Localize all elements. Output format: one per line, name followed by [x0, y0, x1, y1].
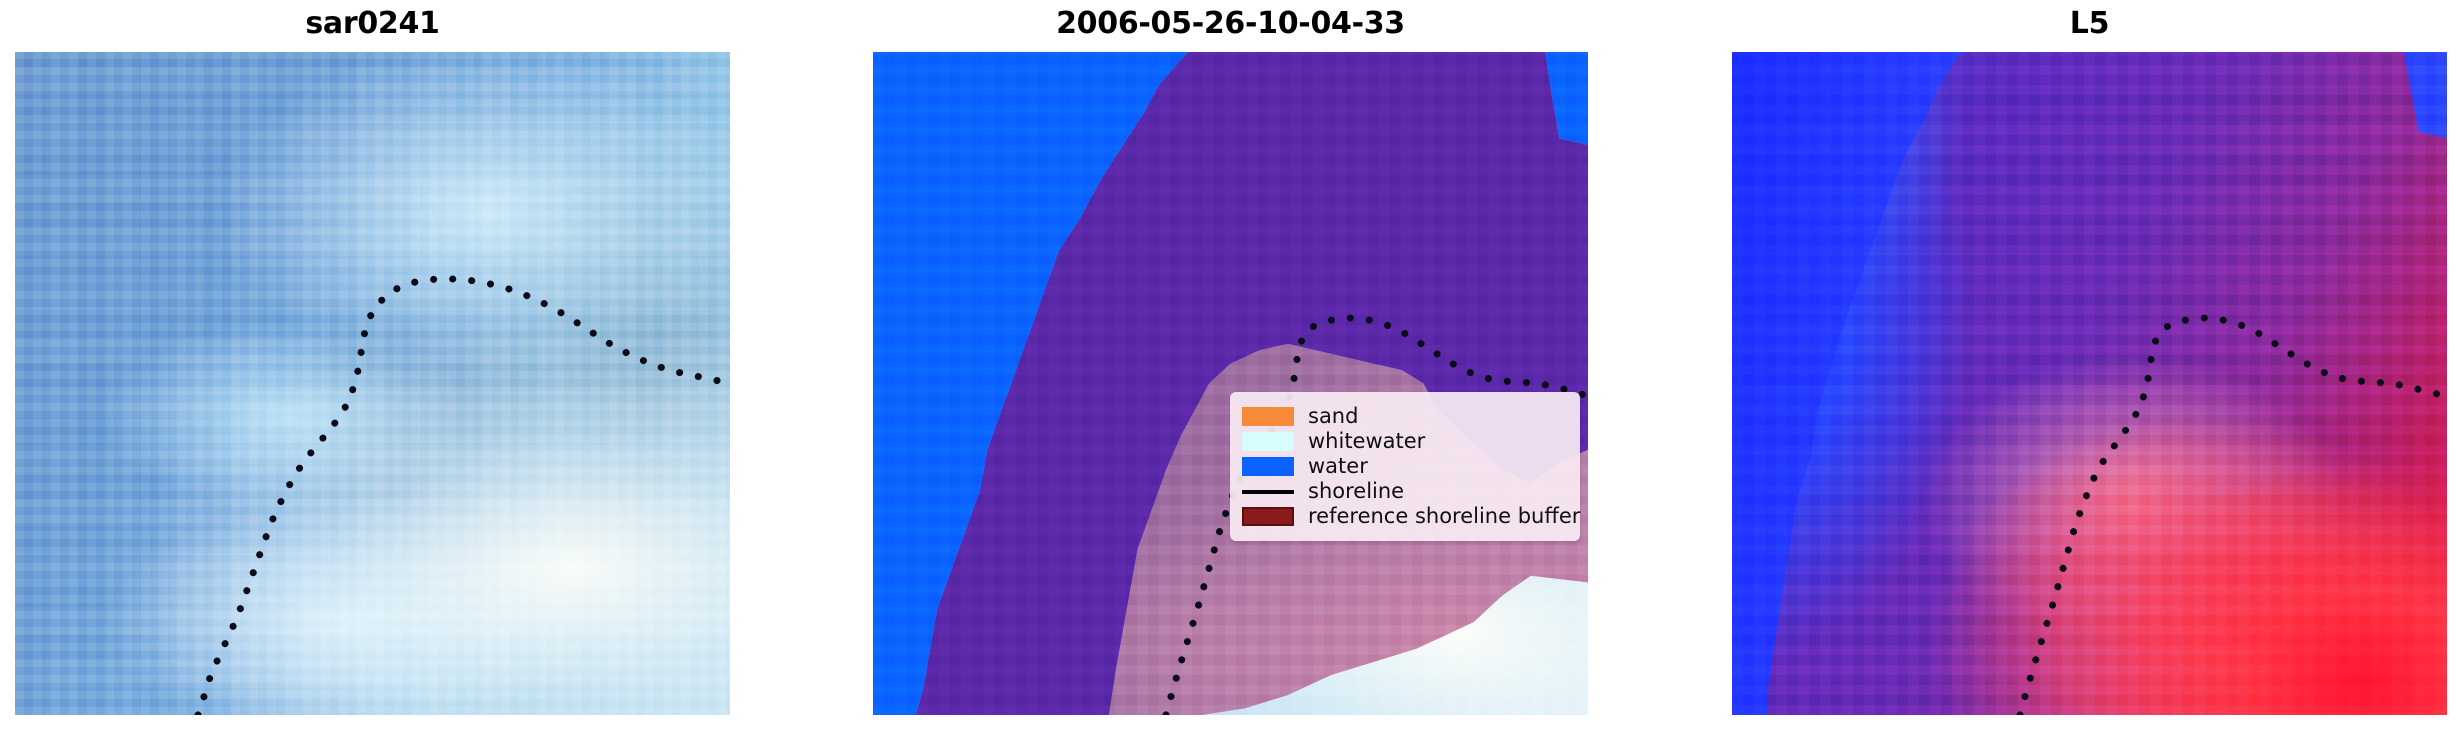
legend-label-reference-shoreline-buffer: reference shoreline buffer	[1308, 504, 1580, 529]
image-panel-sar0241	[15, 52, 730, 715]
panel-title-3: L5	[1732, 4, 2447, 44]
water-swatch-icon	[1242, 457, 1294, 476]
whitewater-swatch-icon	[1242, 432, 1294, 451]
legend-box: sand whitewater water shoreline referenc…	[1230, 392, 1580, 541]
legend-label-whitewater: whitewater	[1308, 429, 1425, 454]
legend-item-water: water	[1242, 454, 1566, 479]
pixelation-texture	[15, 52, 730, 715]
sand-swatch-icon	[1242, 407, 1294, 426]
legend-label-water: water	[1308, 454, 1368, 479]
image-panel-classification: sand whitewater water shoreline referenc…	[873, 52, 1588, 715]
legend-item-shoreline: shoreline	[1242, 479, 1566, 504]
reference-buffer-swatch-icon	[1242, 507, 1294, 526]
pixelation-texture	[873, 52, 1588, 715]
legend-item-whitewater: whitewater	[1242, 429, 1566, 454]
shoreline-line-icon	[1242, 490, 1294, 494]
legend-label-shoreline: shoreline	[1308, 479, 1404, 504]
legend-label-sand: sand	[1308, 404, 1358, 429]
panel-title-2: 2006-05-26-10-04-33	[873, 4, 1588, 44]
panel-title-1: sar0241	[15, 4, 730, 44]
legend-item-sand: sand	[1242, 404, 1566, 429]
figure-root: sar0241 2006-05-26-10-04-33 L5 sand whi	[0, 0, 2460, 733]
legend-item-reference-shoreline-buffer: reference shoreline buffer	[1242, 504, 1566, 529]
image-panel-L5	[1732, 52, 2447, 715]
pixelation-texture	[1732, 52, 2447, 715]
